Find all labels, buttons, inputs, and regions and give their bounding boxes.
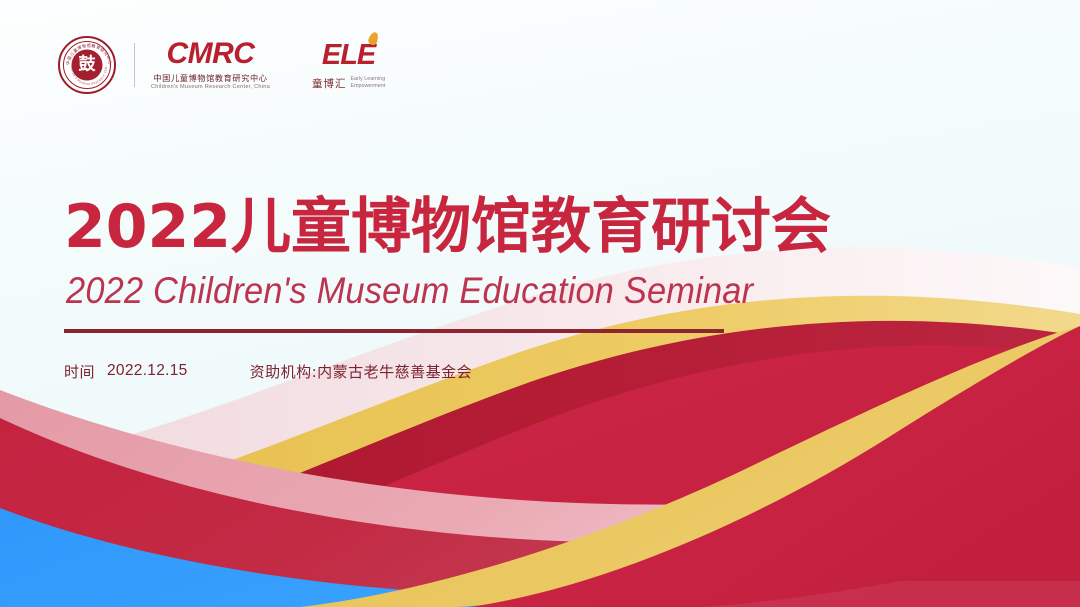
cmrc-wordmark: CMRC	[166, 39, 254, 69]
meta-row: 时间 2022.12.15 资助机构:内蒙古老牛慈善基金会	[64, 361, 831, 382]
ele-wordmark-wrap: ELE	[322, 41, 375, 70]
cmrc-name-en: Children's Museum Research Center, China	[151, 85, 270, 91]
logo-bar: 中国儿童博物馆教育研究中心 CHILDREN'S MUSEUM RESEARCH…	[58, 36, 385, 94]
cmrc-logo: CMRC 中国儿童博物馆教育研究中心 Children's Museum Res…	[151, 39, 270, 91]
title-block: 2022儿童博物馆教育研讨会 2022 Children's Museum Ed…	[64, 196, 831, 382]
ele-wordmark: ELE	[322, 39, 375, 71]
ele-name-row: 童博汇 Early Learning Empowerment	[312, 76, 385, 90]
poster-canvas: 中国儿童博物馆教育研究中心 CHILDREN'S MUSEUM RESEARCH…	[0, 0, 1080, 607]
cmrc-seal-icon: 中国儿童博物馆教育研究中心 CHILDREN'S MUSEUM RESEARCH…	[58, 36, 116, 94]
cmrc-name-cn: 中国儿童博物馆教育研究中心	[153, 74, 267, 82]
funder-text: 资助机构:内蒙古老牛慈善基金会	[250, 361, 473, 382]
ele-tagline-line1: Early Learning	[350, 76, 385, 82]
seal-center-glyph: 鼓	[72, 50, 103, 81]
title-divider-rule	[64, 329, 724, 333]
time-value: 2022.12.15	[107, 362, 188, 380]
seminar-title-en: 2022 Children's Museum Education Seminar	[66, 271, 777, 312]
seminar-title-cn: 2022儿童博物馆教育研讨会	[64, 196, 831, 259]
time-label: 时间	[64, 361, 95, 382]
ele-tagline-line2: Empowerment	[350, 83, 385, 89]
ele-logo: ELE 童博汇 Early Learning Empowerment	[312, 41, 385, 90]
logo-divider	[134, 43, 135, 87]
ele-name-cn: 童博汇	[312, 79, 347, 90]
ele-tagline: Early Learning Empowerment	[350, 76, 385, 90]
